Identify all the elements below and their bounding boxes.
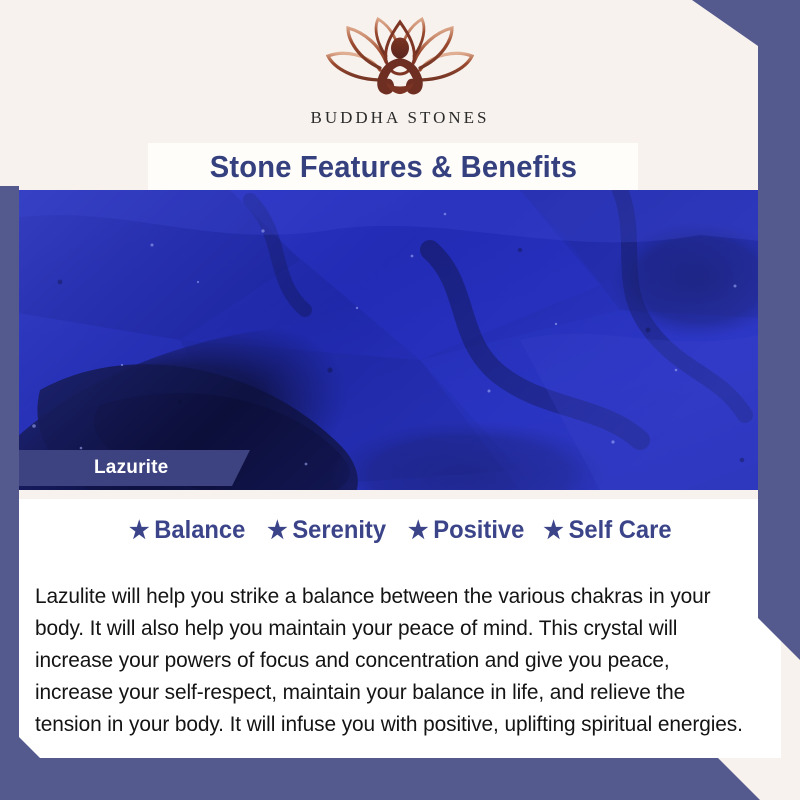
star-icon: ★ [267, 519, 287, 543]
brand-wordmark: BUDDHA STONES [0, 108, 800, 128]
poster-canvas: BUDDHA STONES Stone Features & Benefits … [0, 0, 800, 800]
keyword-row: ★ Balance ★ Serenity ★ Positive ★ Self C… [19, 516, 781, 545]
star-icon: ★ [543, 519, 563, 543]
stone-name-band: Lazurite [18, 450, 250, 486]
keyword-label: Serenity [292, 516, 386, 545]
keyword-self-care: ★ Self Care [543, 516, 671, 545]
frame-right-strip [758, 0, 800, 660]
frame-bottom-band [0, 758, 760, 800]
keyword-balance: ★ Balance [129, 516, 245, 545]
page-title: Stone Features & Benefits [209, 149, 576, 185]
stone-name-label: Lazurite [94, 457, 168, 479]
brand-logo: BUDDHA STONES [0, 16, 800, 128]
keyword-serenity: ★ Serenity [267, 516, 386, 545]
panel-top-strip [19, 490, 781, 499]
panel-corner-wedge [19, 737, 41, 759]
keyword-positive: ★ Positive [408, 516, 524, 545]
frame-left-strip [0, 186, 19, 786]
keyword-label: Balance [154, 516, 245, 545]
star-icon: ★ [408, 519, 428, 543]
star-icon: ★ [129, 519, 149, 543]
stone-photo-graphic [0, 190, 800, 490]
keyword-label: Positive [433, 516, 524, 545]
lazurite-stone-photo [0, 190, 800, 490]
stone-description: Lazulite will help you strike a balance … [35, 580, 743, 740]
lotus-meditation-icon [324, 16, 476, 104]
title-banner: Stone Features & Benefits [148, 143, 638, 190]
content-panel: ★ Balance ★ Serenity ★ Positive ★ Self C… [19, 490, 781, 758]
keyword-label: Self Care [568, 516, 671, 545]
